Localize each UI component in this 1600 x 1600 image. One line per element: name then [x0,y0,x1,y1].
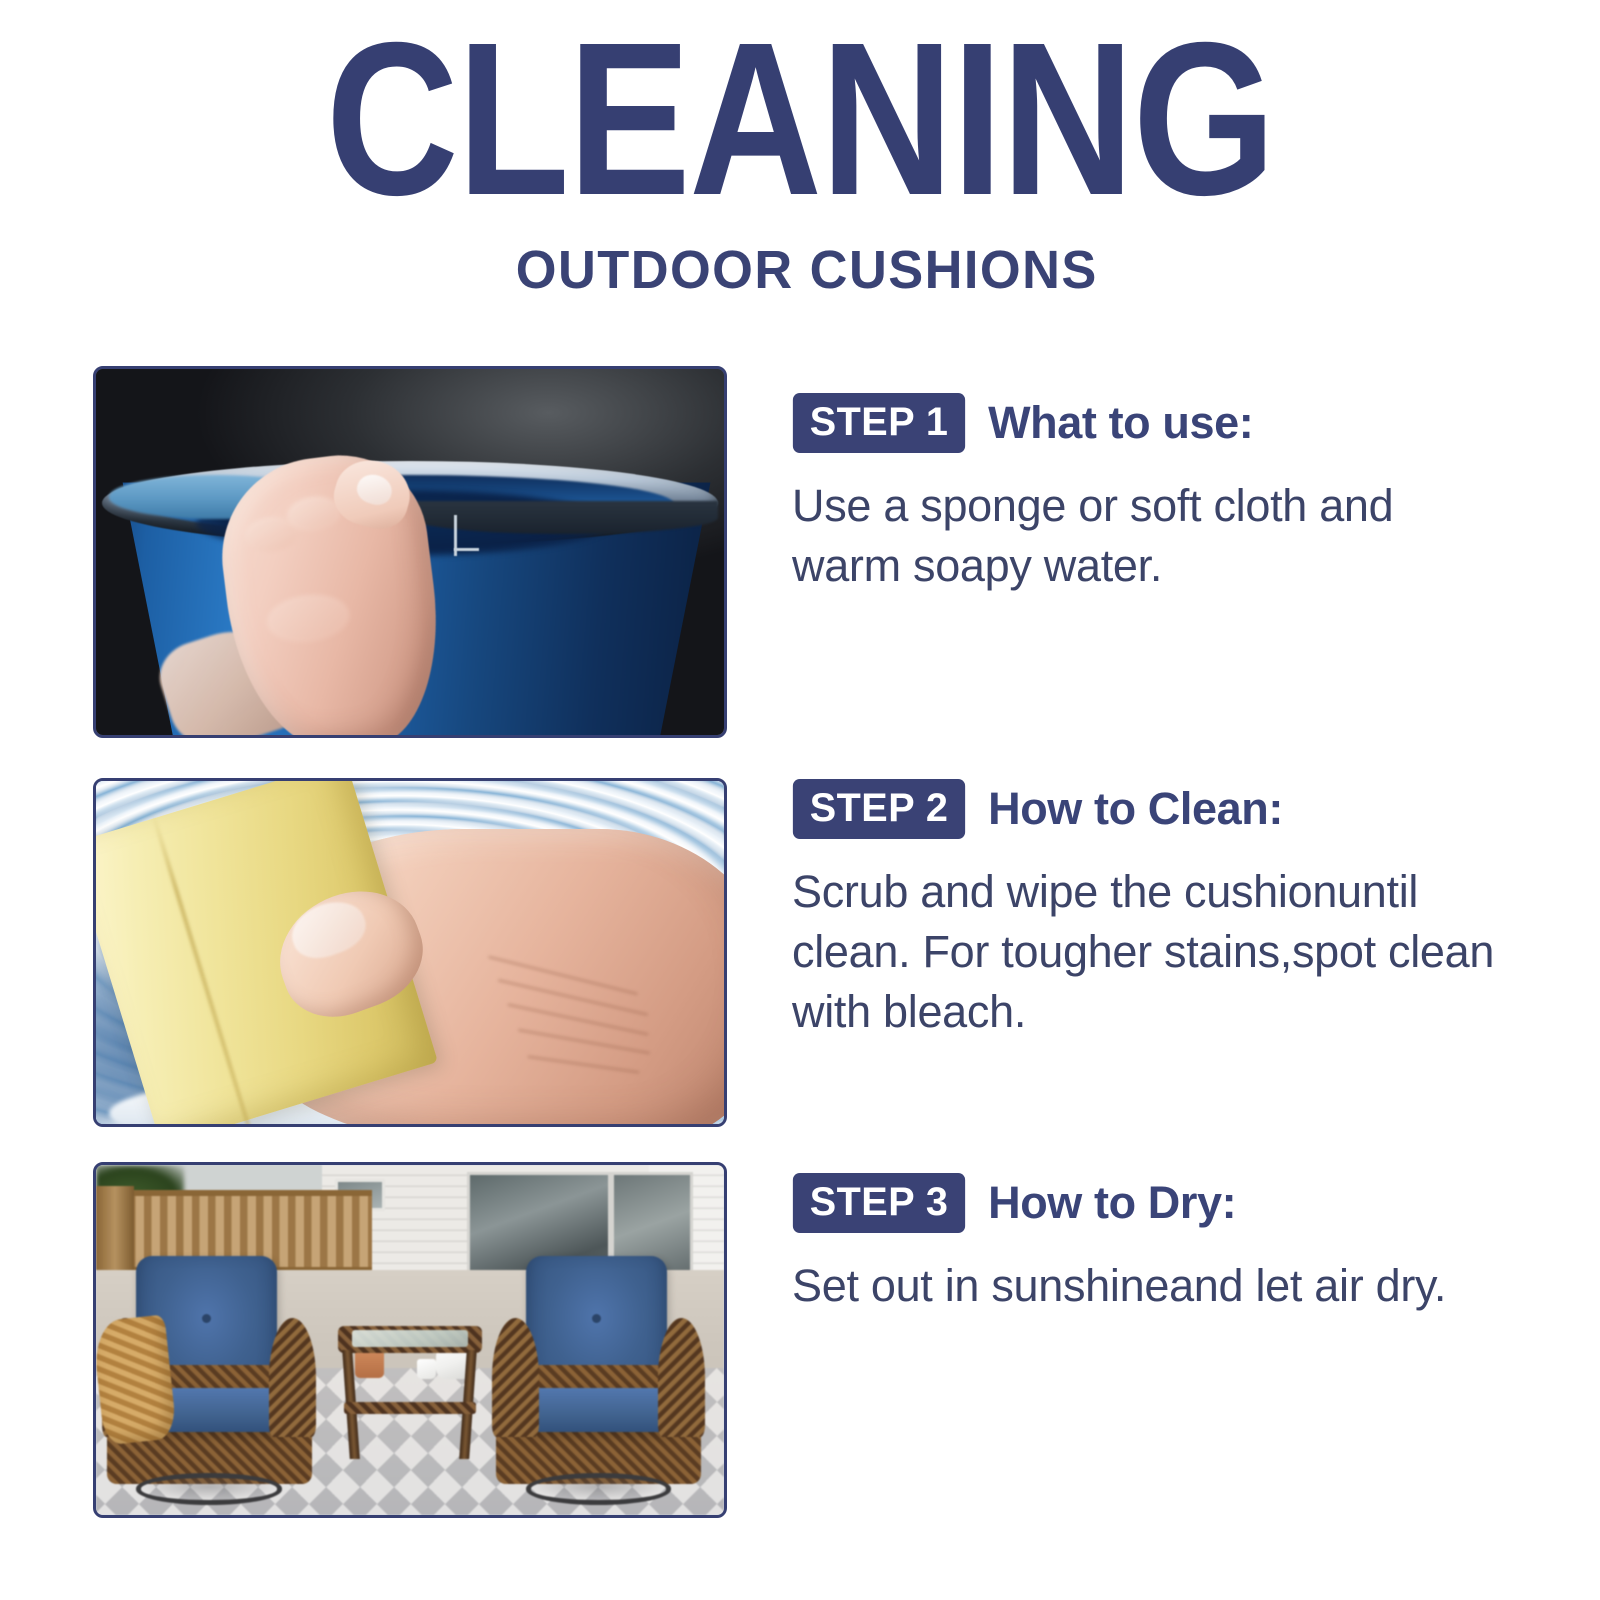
page-subtitle: OUTDOOR CUSHIONS [24,239,1576,301]
step-2-badge: STEP 2 [793,779,965,839]
step-2-block: STEP 2 How to Clean: Scrub and wipe the … [792,778,1532,1042]
chair-arm-right [658,1318,705,1437]
wicker-chair-left [102,1246,316,1505]
sponge-in-water-photo [93,778,727,1127]
header: CLEANING OUTDOOR CUSHIONS [0,18,1600,301]
cushion-tuft [592,1314,601,1323]
cushion-tuft [202,1314,211,1323]
step-3-block: STEP 3 How to Dry: Set out in sunshinean… [792,1172,1532,1316]
wicker-chair-right [492,1246,706,1505]
throw-blanket [96,1315,177,1446]
white-mug [417,1359,436,1379]
step-2-title: How to Clean: [988,783,1283,835]
step-2-body: Scrub and wipe the cushionuntil clean. F… [792,862,1512,1042]
step-1-title: What to use: [988,397,1253,449]
step-1-body: Use a sponge or soft cloth and warm soap… [792,476,1512,596]
step-1-heading-row: STEP 1 What to use: [792,392,1532,454]
infographic-page: CLEANING OUTDOOR CUSHIONS [0,0,1600,1600]
chair-arm-left [492,1318,539,1437]
page-title: CLEANING [124,18,1476,223]
step-3-heading-row: STEP 3 How to Dry: [792,1172,1532,1234]
step-2-heading-row: STEP 2 How to Clean: [792,778,1532,840]
step-1-badge: STEP 1 [793,393,965,453]
chair-seat-cushion [517,1388,679,1432]
terracotta-pot [355,1349,384,1378]
table-lower-shelf [344,1402,477,1414]
chair-swivel-base [526,1473,671,1504]
patio-furniture-photo [93,1162,727,1518]
chair-swivel-base [136,1473,281,1504]
bucket-and-cloth-photo [93,366,727,738]
sponge-crease [150,811,250,1124]
side-table [338,1326,482,1459]
step-1-block: STEP 1 What to use: Use a sponge or soft… [792,392,1532,596]
bucket-clip-horizontal [454,548,479,551]
step-3-badge: STEP 3 [793,1173,965,1233]
table-glass-surface [352,1330,468,1347]
chair-arm-right [269,1318,316,1437]
step-3-title: How to Dry: [988,1177,1236,1229]
step-3-body: Set out in sunshineand let air dry. [792,1256,1512,1316]
